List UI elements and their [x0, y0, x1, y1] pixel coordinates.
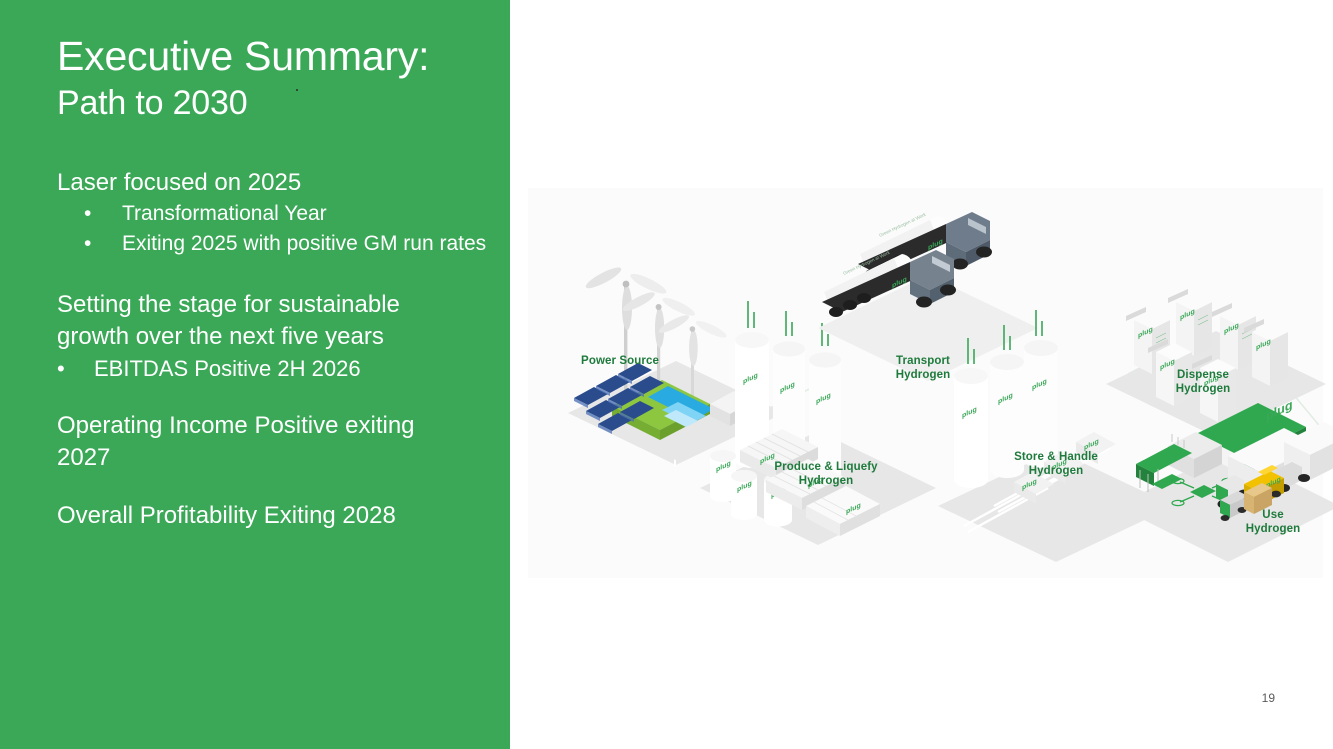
hydrogen-tank-icon	[1024, 340, 1058, 468]
stage-dispense	[1106, 289, 1326, 437]
stage-label-power-source: Power Source	[560, 354, 680, 368]
stage-label-produce-liquefy: Produce & Liquefy Hydrogen	[756, 460, 896, 488]
stage-label-use: Use Hydrogen	[1221, 508, 1325, 536]
page-subtitle-text: Path to 2030	[57, 84, 247, 122]
stage-use	[1116, 397, 1333, 749]
section2-bullet-list: • EBITDAS Positive 2H 2026	[57, 353, 497, 384]
list-item-label: Transformational Year	[122, 202, 327, 225]
title-block: Executive Summary: Path to 2030	[57, 32, 497, 126]
page-title: Executive Summary:	[57, 32, 497, 80]
bullet-dot-icon: •	[84, 199, 91, 229]
hydrogen-value-chain-diagram: plug	[528, 188, 1323, 578]
hydrogen-tank-icon	[731, 470, 757, 520]
page-subtitle: Path to 2030	[57, 80, 497, 126]
list-item-label: EBITDAS Positive 2H 2026	[94, 356, 361, 381]
bullet-dot-icon: •	[84, 229, 91, 259]
section1-bullet-list: • Transformational Year • Exiting 2025 w…	[57, 199, 497, 259]
page-number: 19	[1262, 691, 1275, 705]
stage-label-dispense: Dispense Hydrogen	[1148, 368, 1258, 396]
list-item: • Exiting 2025 with positive GM run rate…	[57, 229, 497, 259]
stage-label-transport: Transport Hydrogen	[868, 354, 978, 382]
list-item: • Transformational Year	[57, 199, 497, 229]
section4-lead: Overall Profitability Exiting 2028	[57, 500, 497, 532]
stray-dot-artifact	[296, 89, 298, 91]
body-content: Laser focused on 2025 • Transformational…	[57, 167, 497, 532]
stage-label-store-handle: Store & Handle Hydrogen	[991, 450, 1121, 478]
slide-root: Executive Summary: Path to 2030 Laser fo…	[0, 0, 1333, 749]
list-item: • EBITDAS Positive 2H 2026	[57, 353, 497, 384]
hydrogen-tank-icon	[954, 368, 988, 488]
spacer	[57, 474, 497, 500]
section2-lead: Setting the stage for sustainable growth…	[57, 289, 435, 353]
right-content-area: plug	[510, 0, 1333, 749]
spacer	[57, 384, 497, 410]
list-item-label: Exiting 2025 with positive GM run rates	[122, 232, 486, 255]
bullet-dot-icon: •	[57, 353, 65, 384]
left-green-panel: Executive Summary: Path to 2030 Laser fo…	[0, 0, 510, 749]
section3-lead: Operating Income Positive exiting 2027	[57, 410, 435, 474]
section1-lead: Laser focused on 2025	[57, 167, 497, 199]
spacer	[57, 259, 497, 289]
